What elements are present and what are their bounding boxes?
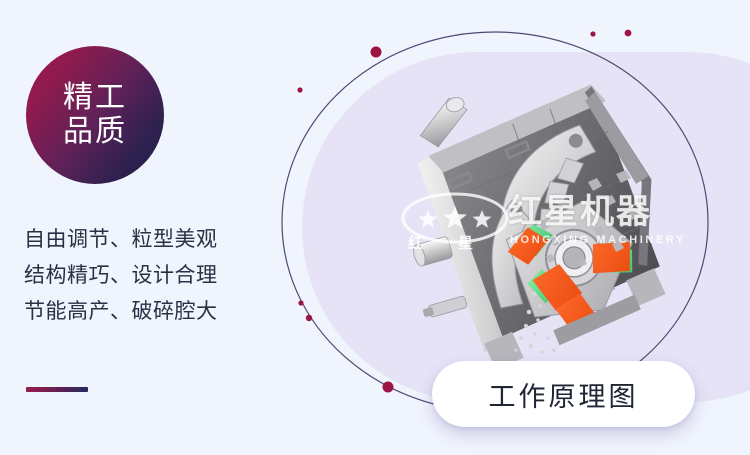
ring-dot-7 [383,382,394,393]
quality-badge-line-1: 精工 [63,81,127,115]
ring-dot-5 [298,300,303,305]
ring-dot-3 [625,30,632,37]
quality-badge: 精工 品质 [26,46,164,184]
quality-badge-line-2: 品质 [63,115,127,149]
accent-divider [26,387,88,392]
feature-line-3: 节能高产、破碎腔大 [24,294,284,330]
promo-banner: 精工 品质 自由调节、粒型美观 结构精巧、设计合理 节能高产、破碎腔大 [0,0,750,455]
right-illustration-panel: 红 星 红星机器 HONGXING MACHINERY 工作原理图 [280,0,750,455]
working-principle-button[interactable]: 工作原理图 [432,361,695,427]
impact-crusher-cutaway [388,62,688,362]
ring-dot-2 [590,31,595,36]
ring-dot-4 [297,87,302,92]
working-principle-button-label: 工作原理图 [489,375,639,414]
ring-dot-1 [371,47,382,58]
feature-line-1: 自由调节、粒型美观 [24,222,284,258]
left-content-panel: 精工 品质 自由调节、粒型美观 结构精巧、设计合理 节能高产、破碎腔大 [0,0,300,455]
ring-dot-6 [306,315,312,321]
feature-list: 自由调节、粒型美观 结构精巧、设计合理 节能高产、破碎腔大 [24,222,284,330]
feature-line-2: 结构精巧、设计合理 [24,258,284,294]
